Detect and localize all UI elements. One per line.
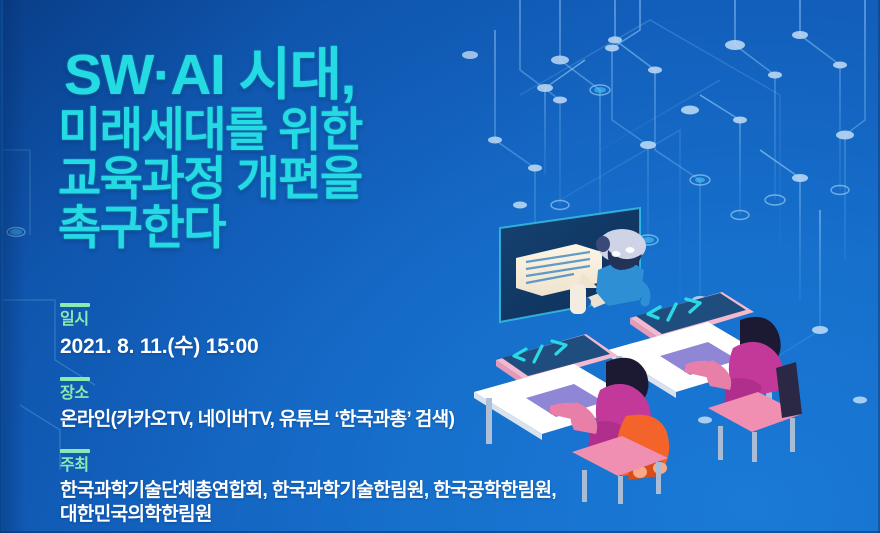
detail-label-datetime: 일시 bbox=[60, 311, 556, 329]
detail-block-host: 주최 한국과학기술단체총연합회, 한국과학기술한림원, 한국공학한림원, 대한민… bbox=[60, 449, 556, 527]
detail-block-location: 장소 온라인(카카오TV, 네이버TV, 유튜브 ‘한국과총’ 검색) bbox=[60, 377, 556, 432]
headline-line-2: 미래세대를 위한 bbox=[58, 106, 362, 153]
detail-value-host: 한국과학기술단체총연합회, 한국과학기술한림원, 한국공학한림원, 대한민국의학… bbox=[60, 479, 556, 527]
detail-value-line: 2021. 8. 11.(수) 15:00 bbox=[60, 334, 556, 360]
headline-line-3: 교육과정 개편을 bbox=[58, 155, 362, 202]
detail-label-location: 장소 bbox=[60, 385, 556, 403]
poster-edge-left bbox=[0, 0, 3, 533]
poster-headline: SW·AI 시대, 미래세대를 위한 교육과정 개편을 촉구한다 bbox=[58, 47, 362, 251]
headline-line-4: 촉구한다 bbox=[58, 204, 362, 251]
detail-value-line: 대한민국의학한림원 bbox=[60, 503, 556, 527]
detail-value-location: 온라인(카카오TV, 네이버TV, 유튜브 ‘한국과총’ 검색) bbox=[60, 408, 556, 432]
detail-value-line: 한국과학기술단체총연합회, 한국과학기술한림원, 한국공학한림원, bbox=[60, 479, 556, 503]
accent-bar-decoration bbox=[60, 303, 90, 307]
event-details: 일시 2021. 8. 11.(수) 15:00 장소 온라인(카카오TV, 네… bbox=[60, 303, 556, 527]
event-poster: SW·AI 시대, 미래세대를 위한 교육과정 개편을 촉구한다 일시 2021… bbox=[0, 0, 880, 533]
detail-label-host: 주최 bbox=[60, 457, 556, 475]
accent-bar-decoration bbox=[60, 377, 90, 381]
accent-bar-decoration bbox=[60, 449, 90, 453]
detail-value-datetime: 2021. 8. 11.(수) 15:00 bbox=[60, 334, 556, 360]
detail-value-line: 온라인(카카오TV, 네이버TV, 유튜브 ‘한국과총’ 검색) bbox=[60, 408, 556, 432]
detail-block-datetime: 일시 2021. 8. 11.(수) 15:00 bbox=[60, 303, 556, 360]
headline-line-1: SW·AI 시대, bbox=[64, 47, 362, 104]
